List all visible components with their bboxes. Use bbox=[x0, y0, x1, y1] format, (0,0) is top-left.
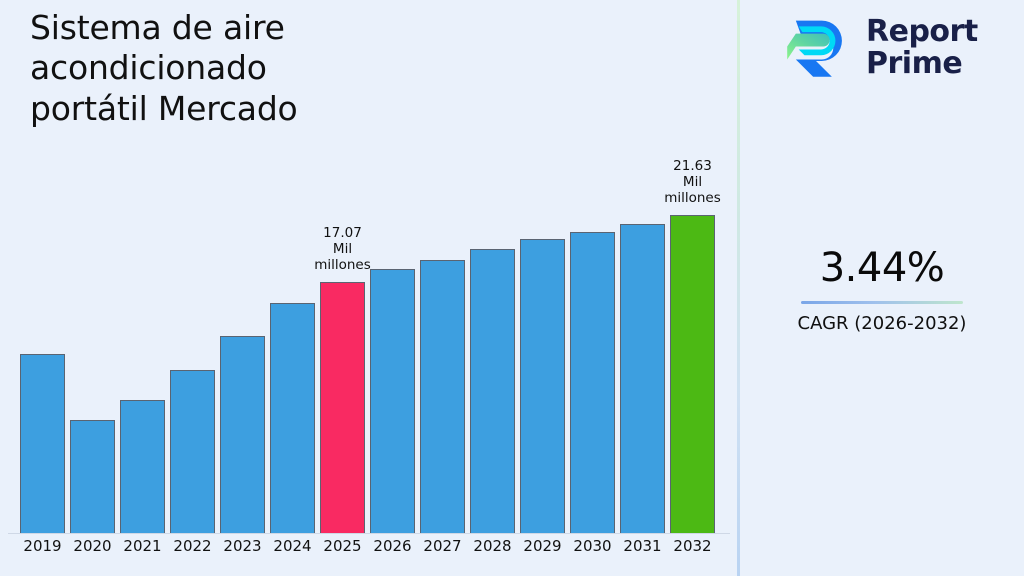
x-tick-2024: 2024 bbox=[264, 537, 321, 555]
x-tick-2026: 2026 bbox=[364, 537, 421, 555]
x-tick-2022: 2022 bbox=[164, 537, 221, 555]
x-tick-2031: 2031 bbox=[614, 537, 671, 555]
x-tick-2020: 2020 bbox=[64, 537, 121, 555]
bar-2026[interactable] bbox=[370, 269, 415, 533]
bar-2020[interactable] bbox=[70, 420, 115, 533]
x-tick-2028: 2028 bbox=[464, 537, 521, 555]
cagr-divider-rule bbox=[801, 301, 963, 304]
chart-panel: Sistema de aire acondicionado portátil M… bbox=[0, 0, 738, 576]
x-tick-2023: 2023 bbox=[214, 537, 271, 555]
bar-chart: 201920202021202220232024202517.07 Mil mi… bbox=[0, 0, 738, 576]
x-tick-2030: 2030 bbox=[564, 537, 621, 555]
x-axis-line bbox=[8, 533, 730, 534]
bar-2031[interactable] bbox=[620, 224, 665, 533]
x-tick-2025: 2025 bbox=[314, 537, 371, 555]
bar-label-2032: 21.63 Mil millones bbox=[641, 159, 744, 206]
cagr-value: 3.44% bbox=[740, 248, 1024, 288]
bar-2027[interactable] bbox=[420, 260, 465, 533]
bar-2030[interactable] bbox=[570, 232, 615, 533]
report-prime-logo-icon bbox=[780, 12, 852, 84]
bar-2023[interactable] bbox=[220, 336, 265, 533]
cagr-caption: CAGR (2026-2032) bbox=[740, 313, 1024, 334]
bar-2024[interactable] bbox=[270, 303, 315, 533]
brand-logo: Report Prime bbox=[780, 12, 978, 84]
brand-name-line1: Report bbox=[866, 14, 978, 49]
bar-2029[interactable] bbox=[520, 239, 565, 533]
cagr-block: 3.44% CAGR (2026-2032) bbox=[740, 248, 1024, 334]
brand-panel: Report Prime 3.44% CAGR (2026-2032) bbox=[740, 0, 1024, 576]
bar-2028[interactable] bbox=[470, 249, 515, 533]
x-tick-2019: 2019 bbox=[14, 537, 71, 555]
infographic-root: Sistema de aire acondicionado portátil M… bbox=[0, 0, 1024, 576]
brand-name-line2: Prime bbox=[866, 46, 962, 81]
bar-2022[interactable] bbox=[170, 370, 215, 533]
x-tick-2032: 2032 bbox=[664, 537, 721, 555]
x-tick-2027: 2027 bbox=[414, 537, 471, 555]
bar-label-2025: 17.07 Mil millones bbox=[291, 226, 394, 273]
bar-2032[interactable] bbox=[670, 215, 715, 533]
x-tick-2029: 2029 bbox=[514, 537, 571, 555]
x-tick-2021: 2021 bbox=[114, 537, 171, 555]
brand-name: Report Prime bbox=[866, 16, 978, 80]
bar-2021[interactable] bbox=[120, 400, 165, 533]
bar-2019[interactable] bbox=[20, 354, 65, 533]
bar-2025[interactable] bbox=[320, 282, 365, 533]
